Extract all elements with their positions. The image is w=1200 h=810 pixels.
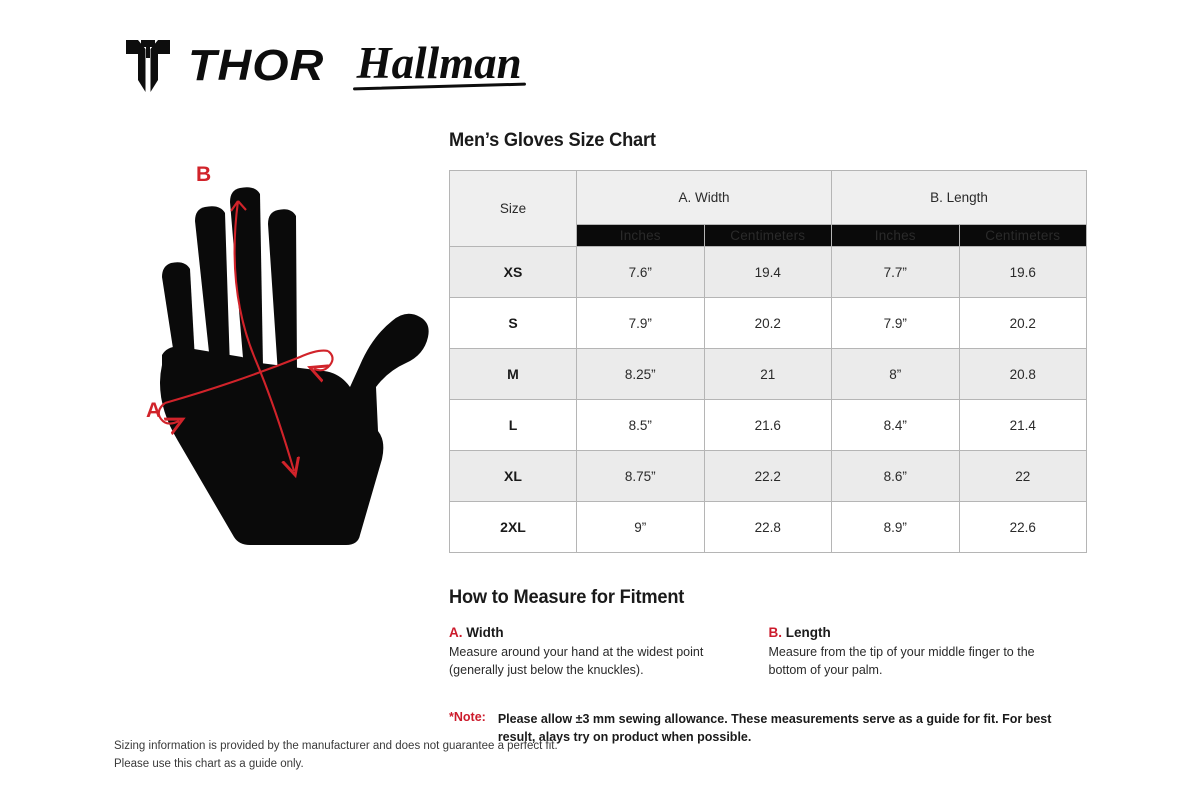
disclaimer-line-2: Please use this chart as a guide only.	[114, 756, 558, 774]
note-text: Please allow ±3 mm sewing allowance. The…	[498, 710, 1088, 746]
size-chart-table: Size A. Width B. Length Inches Centimete…	[449, 170, 1087, 553]
cell-size: M	[450, 349, 577, 400]
cell-length-centimeters: 19.6	[959, 247, 1087, 298]
cell-length-centimeters: 20.2	[959, 298, 1087, 349]
cell-length-inches: 7.7”	[832, 247, 960, 298]
cell-size: L	[450, 400, 577, 451]
column-header-size: Size	[450, 171, 577, 247]
measure-length-block: B. Length Measure from the tip of your m…	[769, 625, 1089, 680]
column-header-length-inches: Inches	[832, 225, 960, 247]
disclaimer-line-1: Sizing information is provided by the ma…	[114, 738, 558, 756]
measure-length-name: Length	[786, 625, 831, 640]
hallman-wordmark: Hallman	[351, 41, 528, 92]
how-to-measure-title: How to Measure for Fitment	[449, 587, 1062, 609]
hand-shape	[160, 187, 429, 545]
cell-width-inches: 7.6”	[577, 247, 705, 298]
disclaimer: Sizing information is provided by the ma…	[114, 738, 558, 774]
cell-length-centimeters: 22	[959, 451, 1087, 502]
thor-logo: THOR	[124, 38, 317, 94]
width-arrow-a-head-right	[314, 351, 333, 370]
cell-width-inches: 9”	[577, 502, 705, 553]
label-a: A	[146, 399, 161, 422]
cell-width-inches: 8.5”	[577, 400, 705, 451]
cell-width-inches: 8.75”	[577, 451, 705, 502]
cell-length-inches: 8.9”	[832, 502, 960, 553]
column-header-length-group: B. Length	[832, 171, 1087, 225]
cell-length-inches: 8.4”	[832, 400, 960, 451]
table-row: S 7.9” 20.2 7.9” 20.2	[450, 298, 1087, 349]
cell-size: XL	[450, 451, 577, 502]
table-head-row-groups: Size A. Width B. Length	[450, 171, 1087, 225]
measure-width-tag: A.	[449, 625, 463, 640]
column-header-width-group: A. Width	[577, 171, 832, 225]
table-row: M 8.25” 21 8” 20.8	[450, 349, 1087, 400]
cell-width-centimeters: 21.6	[704, 400, 832, 451]
table-body: XS 7.6” 19.4 7.7” 19.6 S 7.9” 20.2 7.9” …	[450, 247, 1087, 553]
table-row: L 8.5” 21.6 8.4” 21.4	[450, 400, 1087, 451]
chart-content: Men’s Gloves Size Chart Size A. Width B.…	[449, 130, 1088, 746]
table-row: XL 8.75” 22.2 8.6” 22	[450, 451, 1087, 502]
brand-logo-bar: THOR Hallman	[124, 38, 528, 94]
cell-length-centimeters: 21.4	[959, 400, 1087, 451]
cell-width-centimeters: 22.2	[704, 451, 832, 502]
glove-hand-diagram: B A	[110, 155, 430, 545]
cell-width-centimeters: 19.4	[704, 247, 832, 298]
measure-width-name: Width	[466, 625, 503, 640]
cell-size: S	[450, 298, 577, 349]
cell-size: XS	[450, 247, 577, 298]
column-header-width-centimeters: Centimeters	[704, 225, 832, 247]
cell-width-centimeters: 21	[704, 349, 832, 400]
measure-width-block: A. Width Measure around your hand at the…	[449, 625, 769, 680]
table-row: 2XL 9” 22.8 8.9” 22.6	[450, 502, 1087, 553]
cell-length-centimeters: 22.6	[959, 502, 1087, 553]
cell-size: 2XL	[450, 502, 577, 553]
note-tag: *Note:	[449, 710, 486, 724]
column-header-length-centimeters: Centimeters	[959, 225, 1087, 247]
cell-length-inches: 7.9”	[832, 298, 960, 349]
column-header-width-inches: Inches	[577, 225, 705, 247]
cell-width-inches: 8.25”	[577, 349, 705, 400]
how-to-measure-section: How to Measure for Fitment A. Width Meas…	[449, 587, 1088, 680]
measure-length-text: Measure from the tip of your middle fing…	[769, 644, 1071, 680]
cell-width-inches: 7.9”	[577, 298, 705, 349]
thor-wordmark: THOR	[188, 44, 324, 88]
cell-length-inches: 8.6”	[832, 451, 960, 502]
measure-length-tag: B.	[769, 625, 783, 640]
measure-width-label: A. Width	[449, 625, 751, 640]
table-head: Size A. Width B. Length Inches Centimete…	[450, 171, 1087, 247]
glove-silhouette-icon: B A	[110, 155, 430, 545]
how-to-measure-columns: A. Width Measure around your hand at the…	[449, 625, 1088, 680]
cell-width-centimeters: 22.8	[704, 502, 832, 553]
measure-width-text: Measure around your hand at the widest p…	[449, 644, 751, 680]
table-row: XS 7.6” 19.4 7.7” 19.6	[450, 247, 1087, 298]
cell-length-centimeters: 20.8	[959, 349, 1087, 400]
thor-emblem-icon	[124, 38, 172, 94]
cell-width-centimeters: 20.2	[704, 298, 832, 349]
label-b: B	[196, 163, 211, 186]
cell-length-inches: 8”	[832, 349, 960, 400]
measure-length-label: B. Length	[769, 625, 1071, 640]
page-title: Men’s Gloves Size Chart	[449, 130, 1062, 152]
